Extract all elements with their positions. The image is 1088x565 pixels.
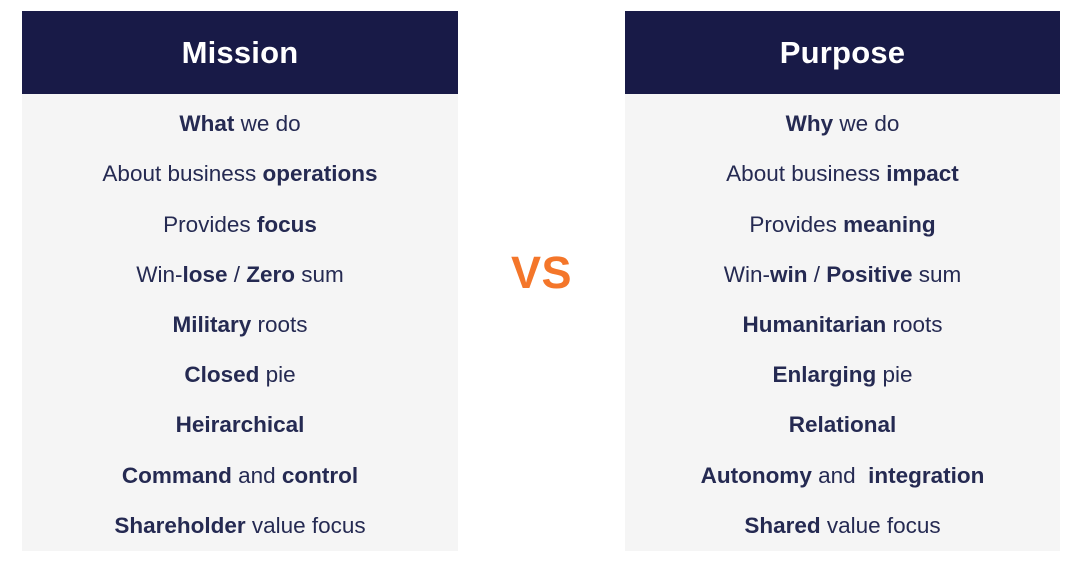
comparison-infographic: Mission What we doAbout business operati…	[0, 0, 1088, 565]
comparison-card-mission: Mission What we doAbout business operati…	[22, 11, 458, 551]
row-text-plain: Win-	[724, 262, 770, 288]
row-text-emphasis: meaning	[843, 212, 936, 238]
row-text-emphasis: Command	[122, 463, 232, 489]
comparison-row-purpose-management-style: Autonomy and integration	[625, 451, 1060, 501]
row-text-plain: and	[232, 463, 282, 489]
row-text-plain: we do	[234, 111, 300, 137]
row-text-emphasis: Closed	[184, 362, 259, 388]
row-text-plain: Provides	[163, 212, 257, 238]
comparison-row-purpose-business-focus: About business impact	[625, 149, 1060, 199]
comparison-row-purpose-structure: Relational	[625, 400, 1060, 450]
row-text-emphasis: Relational	[789, 412, 897, 438]
comparison-row-mission-sum-type: Win-lose / Zero sum	[22, 250, 458, 300]
card-header-purpose: Purpose	[625, 11, 1060, 94]
row-text-plain: we do	[833, 111, 899, 137]
card-title-mission: Mission	[182, 37, 299, 68]
row-text-emphasis: Enlarging	[772, 362, 876, 388]
row-text-emphasis: operations	[263, 161, 378, 187]
card-header-mission: Mission	[22, 11, 458, 94]
comparison-card-purpose: Purpose Why we doAbout business impactPr…	[625, 11, 1060, 551]
comparison-row-mission-value-focus: Shareholder value focus	[22, 501, 458, 551]
row-text-plain: pie	[876, 362, 912, 388]
comparison-row-mission-roots: Military roots	[22, 300, 458, 350]
comparison-row-mission-provides: Provides focus	[22, 199, 458, 249]
row-text-emphasis: Autonomy	[701, 463, 812, 489]
row-text-plain: roots	[886, 312, 942, 338]
comparison-row-mission-pie: Closed pie	[22, 350, 458, 400]
row-text-emphasis: focus	[257, 212, 317, 238]
row-text-emphasis: Zero	[246, 262, 295, 288]
comparison-row-purpose-pie: Enlarging pie	[625, 350, 1060, 400]
vs-divider-label: VS	[458, 240, 625, 304]
comparison-row-mission-management-style: Command and control	[22, 451, 458, 501]
row-text-plain: roots	[251, 312, 307, 338]
row-text-emphasis: lose	[182, 262, 227, 288]
row-text-plain: and	[812, 463, 868, 489]
row-text-plain: value focus	[821, 513, 941, 539]
row-text-emphasis: impact	[886, 161, 959, 187]
comparison-row-purpose-sum-type: Win-win / Positive sum	[625, 250, 1060, 300]
comparison-row-purpose-why-we-do: Why we do	[625, 99, 1060, 149]
row-text-emphasis: Heirarchical	[176, 412, 305, 438]
row-text-plain: pie	[259, 362, 295, 388]
row-text-plain: /	[807, 262, 826, 288]
comparison-row-mission-what-we-do: What we do	[22, 99, 458, 149]
card-body-mission: What we doAbout business operationsProvi…	[22, 94, 458, 551]
comparison-row-purpose-provides: Provides meaning	[625, 199, 1060, 249]
row-text-emphasis: Why	[786, 111, 834, 137]
comparison-row-mission-structure: Heirarchical	[22, 400, 458, 450]
row-text-plain: sum	[295, 262, 344, 288]
row-text-plain: /	[227, 262, 246, 288]
row-text-emphasis: Positive	[826, 262, 912, 288]
row-text-emphasis: Humanitarian	[742, 312, 886, 338]
card-title-purpose: Purpose	[780, 37, 905, 68]
comparison-row-mission-business-focus: About business operations	[22, 149, 458, 199]
row-text-plain: Provides	[749, 212, 843, 238]
row-text-plain: About business	[102, 161, 262, 187]
row-text-emphasis: What	[179, 111, 234, 137]
vs-text: VS	[511, 250, 572, 295]
row-text-plain: sum	[913, 262, 962, 288]
row-text-plain: value focus	[246, 513, 366, 539]
row-text-emphasis: Military	[172, 312, 251, 338]
card-body-purpose: Why we doAbout business impactProvides m…	[625, 94, 1060, 551]
row-text-plain: Win-	[136, 262, 182, 288]
row-text-emphasis: Shareholder	[114, 513, 245, 539]
row-text-emphasis: win	[770, 262, 808, 288]
row-text-emphasis: Shared	[744, 513, 820, 539]
comparison-row-purpose-roots: Humanitarian roots	[625, 300, 1060, 350]
row-text-emphasis: control	[282, 463, 358, 489]
comparison-row-purpose-value-focus: Shared value focus	[625, 501, 1060, 551]
row-text-plain: About business	[726, 161, 886, 187]
row-text-emphasis: integration	[868, 463, 984, 489]
